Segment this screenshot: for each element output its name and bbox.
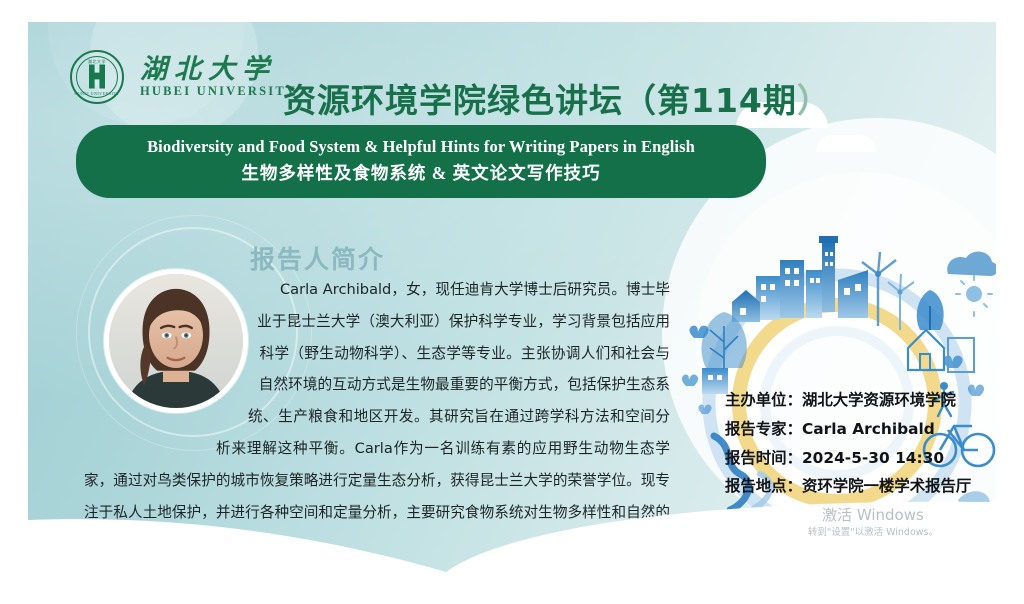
university-name-en: HUBEI UNIVERSITY [140, 84, 297, 99]
info-value-speaker: Carla Archibald [802, 415, 935, 444]
presentation-poster: 湖北大学 HUBEI UNIVERSITY 湖北大学 HUBEI UNIVERS… [0, 0, 1024, 604]
topic-title-chinese: 生物多样性及食物系统 & 英文论文写作技巧 [96, 160, 746, 185]
series-title-main: 资源环境学院绿色讲坛（第114期 [283, 81, 797, 120]
cloud-shape-small [816, 135, 876, 152]
info-label-organizer: 主办单位： [725, 386, 802, 415]
poster-canvas: 湖北大学 HUBEI UNIVERSITY 湖北大学 HUBEI UNIVERS… [28, 22, 996, 582]
series-title-tail: ） [797, 81, 831, 120]
speaker-section-heading: 报告人简介 [250, 240, 385, 276]
university-name: 湖北大学 HUBEI UNIVERSITY [140, 55, 297, 99]
university-name-cn: 湖北大学 [140, 55, 297, 83]
info-row-organizer: 主办单位： 湖北大学资源环境学院 [725, 386, 971, 415]
info-row-speaker: 报告专家： Carla Archibald [725, 415, 971, 444]
university-seal-icon: 湖北大学 HUBEI UNIVERSITY [70, 50, 124, 104]
bottom-wave-decoration [28, 462, 996, 582]
seal-glyph [87, 65, 107, 89]
seal-bottom-text: HUBEI UNIVERSITY [72, 91, 122, 96]
topic-title-english: Biodiversity and Food System & Helpful H… [96, 136, 746, 158]
info-label-speaker: 报告专家： [725, 415, 802, 444]
series-title: 资源环境学院绿色讲坛（第114期） [283, 74, 831, 122]
topic-banner: Biodiversity and Food System & Helpful H… [76, 125, 766, 198]
seal-top-text: 湖北大学 [72, 59, 122, 65]
info-value-organizer: 湖北大学资源环境学院 [802, 386, 956, 415]
bio-text-wrap-spacer [84, 274, 262, 442]
poster-header: 湖北大学 HUBEI UNIVERSITY 湖北大学 HUBEI UNIVERS… [70, 50, 297, 104]
